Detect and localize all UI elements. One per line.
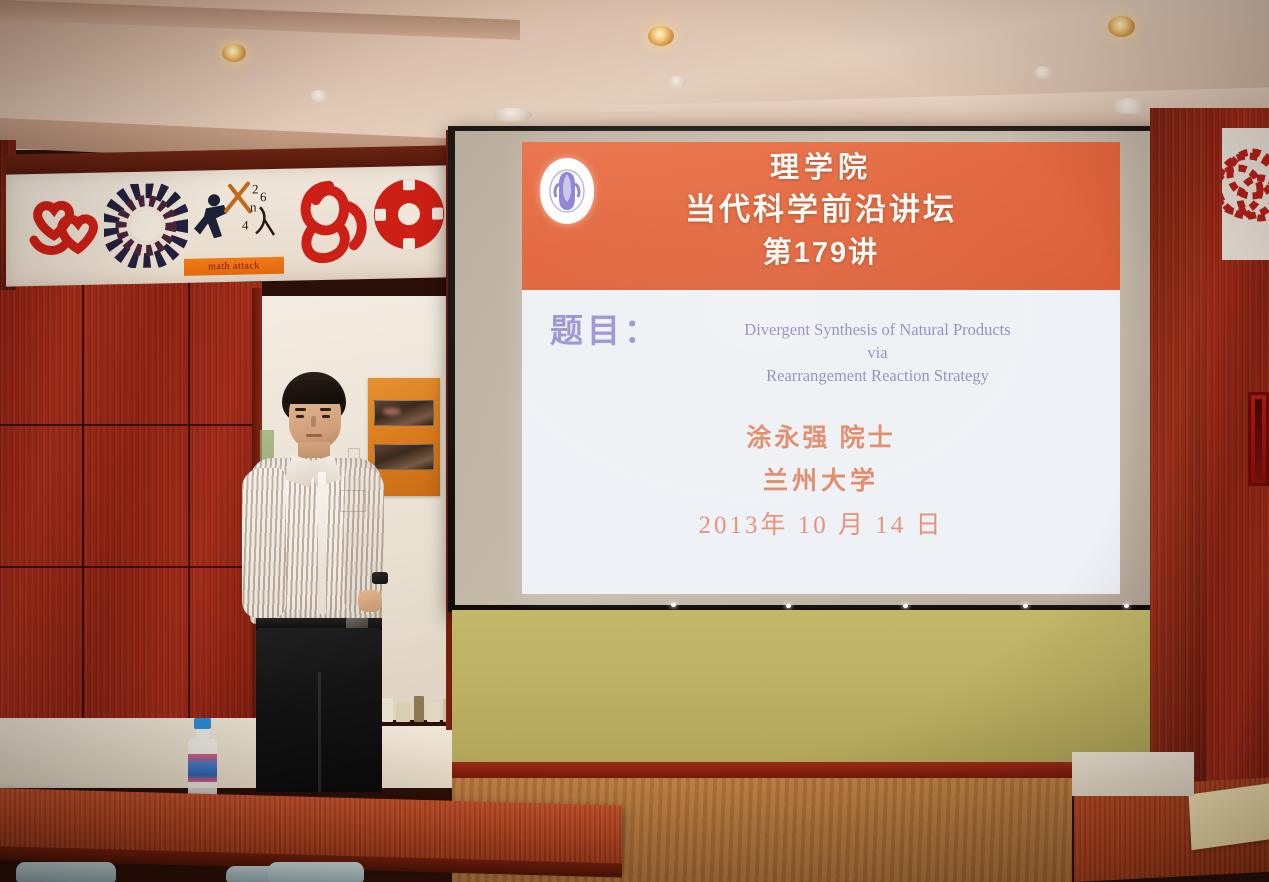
presenter-shirt-pocket: [340, 490, 366, 512]
slide-header-line1: 理学院: [522, 148, 1120, 188]
red-picture-frame: [1248, 392, 1269, 486]
presenter-eyebrow: [320, 408, 331, 411]
slide-date: 2013年 10 月 14 日: [522, 504, 1120, 548]
svg-text:2: 2: [252, 181, 258, 196]
bottle-cap: [194, 718, 211, 729]
frame-interior: [1255, 399, 1262, 479]
lecture-hall-scene: 26 n4 math attack: [0, 0, 1269, 882]
stage-riser-left: [0, 718, 262, 788]
checkered-torus-icon: [104, 183, 188, 269]
olive-wall-panel: [452, 610, 1190, 770]
audience-chair: [268, 862, 364, 882]
perforated-torus-icon: [370, 173, 448, 255]
right-wall-art-panel: [1222, 128, 1269, 260]
presenter-shirt-placket: [318, 472, 326, 614]
presenter-arm-left: [242, 468, 286, 618]
presenter-hair-front: [284, 380, 344, 404]
slide-header: 理学院 当代科学前沿讲坛 第179讲: [522, 142, 1120, 290]
slide-body: 题目： Divergent Synthesis of Natural Produ…: [522, 290, 1120, 594]
frame-screw: [786, 604, 791, 608]
ceiling-speaker-icon: [310, 90, 328, 102]
frame-screw: [1023, 604, 1028, 608]
wood-column-right: [1150, 108, 1206, 808]
presenter-mouth: [306, 434, 322, 437]
slide-topic-line2: via: [661, 341, 1094, 364]
presentation-clicker-icon: [372, 572, 388, 584]
presenter-trouser-seam: [318, 672, 321, 792]
slide-topic-line3: Rearrangement Reaction Strategy: [661, 364, 1094, 387]
panel-seam: [0, 566, 262, 568]
math-attack-label: math attack: [184, 257, 284, 276]
slide-header-text: 理学院 当代科学前沿讲坛 第179讲: [522, 148, 1120, 274]
ceiling-vent-icon: [494, 108, 532, 122]
slide-title-row: 题目： Divergent Synthesis of Natural Produ…: [550, 314, 1094, 387]
paper-sheet: [1189, 782, 1269, 851]
ceiling-speaker-icon: [668, 76, 686, 88]
math-attack-figure-icon: 26 n4: [194, 177, 280, 257]
svg-text:n: n: [250, 199, 257, 214]
linked-hearts-knot-icon: [24, 184, 108, 270]
frame-screw: [1124, 604, 1129, 608]
presenter-hand: [358, 590, 382, 612]
presentation-slide: 理学院 当代科学前沿讲坛 第179讲 题目： Divergent Synthes…: [522, 142, 1120, 594]
math-art-banner: 26 n4 math attack: [6, 165, 446, 286]
trefoil-knot-icon: [284, 173, 374, 267]
frame-screw: [671, 603, 676, 607]
frame-screw: [903, 604, 908, 608]
slide-topic-line1: Divergent Synthesis of Natural Products: [661, 318, 1094, 341]
ceiling-vent-icon: [1112, 98, 1146, 114]
svg-text:4: 4: [242, 218, 249, 233]
bottle-neck: [196, 728, 209, 740]
slide-speaker-block: 涂永强 院士 兰州大学 2013年 10 月 14 日: [522, 418, 1120, 548]
panel-seam: [0, 424, 262, 426]
slide-topic-label: 题目：: [550, 314, 661, 350]
right-table-riser: [1072, 752, 1194, 796]
presenter-nose: [311, 416, 316, 427]
ceiling-downlight-icon: [648, 26, 674, 46]
presenter-person: [232, 372, 392, 792]
slide-speaker-affiliation: 兰州大学: [522, 460, 1120, 504]
svg-text:6: 6: [260, 189, 267, 204]
red-knot-weave-icon: [1222, 128, 1269, 260]
ceiling-speaker-icon: [1034, 66, 1052, 79]
slide-speaker-name: 涂永强 院士: [522, 418, 1120, 460]
presenter-eye: [296, 415, 304, 418]
slide-header-line3: 第179讲: [522, 232, 1120, 274]
slide-topic-text: Divergent Synthesis of Natural Products …: [661, 314, 1094, 387]
left-wood-panel: [0, 282, 262, 722]
panel-seam: [82, 282, 84, 722]
ceiling-downlight-icon: [1108, 16, 1135, 37]
panel-seam: [188, 282, 190, 722]
presenter-eyebrow: [295, 408, 306, 411]
water-bottle: [185, 718, 219, 800]
presenter-eye: [322, 415, 330, 418]
slide-header-line2: 当代科学前沿讲坛: [522, 188, 1120, 232]
ceiling-downlight-icon: [222, 44, 246, 62]
audience-chair: [16, 862, 116, 882]
bottle-label: [188, 754, 217, 782]
